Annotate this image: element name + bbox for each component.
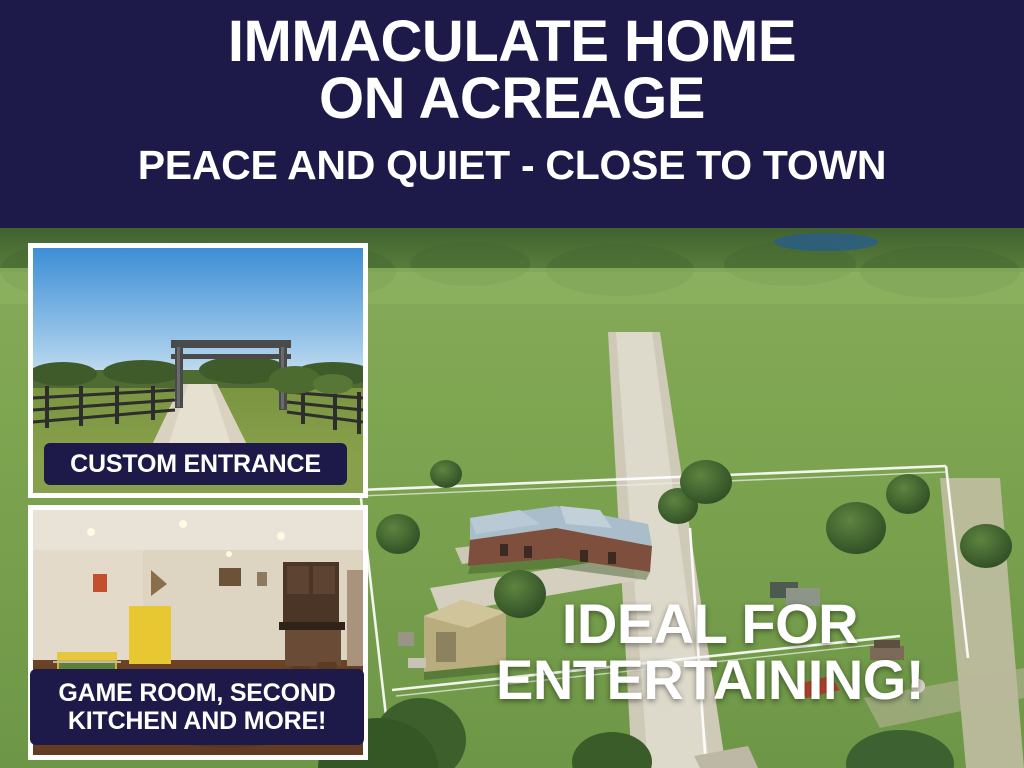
headline-line-2: ON ACREAGE bbox=[228, 71, 796, 128]
header-band: IMMACULATE HOME ON ACREAGE PEACE AND QUI… bbox=[0, 0, 1024, 228]
headline-line-1: IMMACULATE HOME bbox=[228, 9, 796, 74]
page-title: IMMACULATE HOME ON ACREAGE bbox=[228, 14, 796, 128]
game-room-caption-text: GAME ROOM, SECOND KITCHEN AND MORE! bbox=[36, 679, 358, 735]
real-estate-flyer: IMMACULATE HOME ON ACREAGE PEACE AND QUI… bbox=[0, 0, 1024, 768]
game-room-caption: GAME ROOM, SECOND KITCHEN AND MORE! bbox=[30, 669, 364, 745]
overlay-line-1: IDEAL FOR bbox=[562, 592, 858, 655]
custom-entrance-caption: CUSTOM ENTRANCE bbox=[44, 443, 347, 485]
entertaining-overlay-text: IDEAL FOR ENTERTAINING! bbox=[420, 596, 1000, 708]
overlay-line-2: ENTERTAINING! bbox=[420, 652, 1000, 708]
subheadline: PEACE AND QUIET - CLOSE TO TOWN bbox=[138, 142, 886, 189]
